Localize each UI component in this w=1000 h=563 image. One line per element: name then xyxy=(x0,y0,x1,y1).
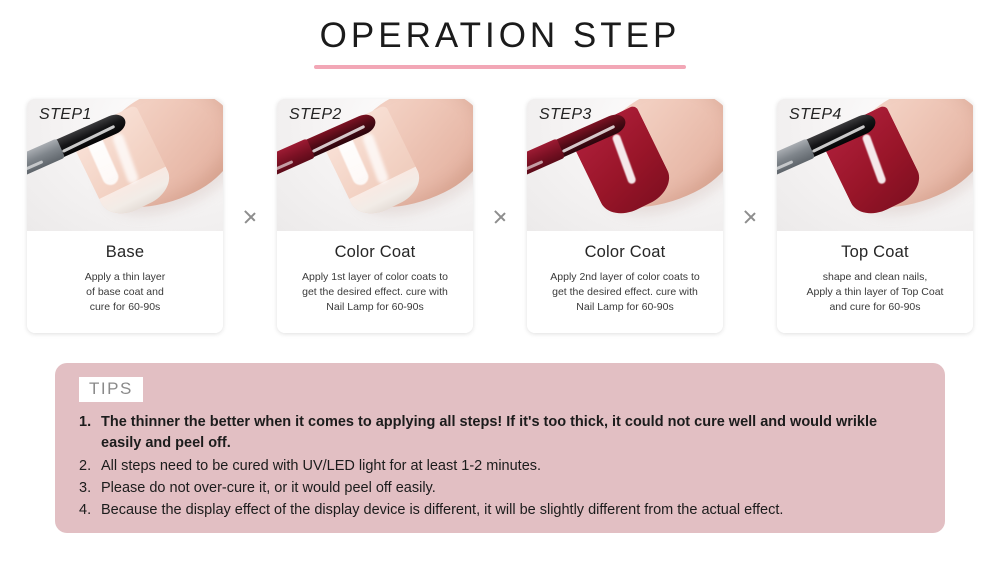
step-photo-1: STEP1 xyxy=(27,99,223,231)
step-photo-3: STEP3 xyxy=(527,99,723,231)
step-description-2: Apply 1st layer of color coats to get th… xyxy=(287,270,463,315)
step-desc-line: of base coat and xyxy=(37,285,213,300)
chevron-right-icon xyxy=(244,204,257,228)
step-separator-2 xyxy=(473,99,527,333)
page-header: OPERATION STEP xyxy=(0,14,1000,69)
tips-list-item: 4. Because the display effect of the dis… xyxy=(79,500,921,520)
step-heading-3: Color Coat xyxy=(537,243,713,262)
chevron-right-icon xyxy=(744,204,757,228)
step-desc-line: Apply a thin layer xyxy=(37,270,213,285)
step-desc-line: and cure for 60-90s xyxy=(787,300,963,315)
step-description-1: Apply a thin layer of base coat and cure… xyxy=(37,270,213,315)
step-heading-1: Base xyxy=(37,243,213,262)
tips-list: 1. The thinner the better when it comes … xyxy=(79,412,921,520)
step-card-1[interactable]: STEP1 Base Apply a thin layer of base co… xyxy=(27,99,223,333)
tips-list-item: 2. All steps need to be cured with UV/LE… xyxy=(79,456,921,476)
tips-item-number: 4. xyxy=(79,500,101,520)
step-badge-3: STEP3 xyxy=(539,106,592,124)
step-desc-line: cure for 60-90s xyxy=(37,300,213,315)
step-badge-4: STEP4 xyxy=(789,106,842,124)
step-desc-line: get the desired effect. cure with xyxy=(287,285,463,300)
step-separator-1 xyxy=(223,99,277,333)
step-heading-2: Color Coat xyxy=(287,243,463,262)
step-heading-4: Top Coat xyxy=(787,243,963,262)
step-desc-line: shape and clean nails, xyxy=(787,270,963,285)
step-badge-1: STEP1 xyxy=(39,106,92,124)
tips-list-item: 3. Please do not over-cure it, or it wou… xyxy=(79,478,921,498)
step-body-2: Color Coat Apply 1st layer of color coat… xyxy=(277,231,473,333)
tips-panel: TIPS 1. The thinner the better when it c… xyxy=(55,363,945,533)
tips-item-text: Please do not over-cure it, or it would … xyxy=(101,478,921,498)
tips-item-number: 1. xyxy=(79,412,101,454)
tips-item-text: Because the display effect of the displa… xyxy=(101,500,921,520)
tips-list-item: 1. The thinner the better when it comes … xyxy=(79,412,921,454)
step-desc-line: Apply a thin layer of Top Coat xyxy=(787,285,963,300)
tips-item-text: All steps need to be cured with UV/LED l… xyxy=(101,456,921,476)
step-body-4: Top Coat shape and clean nails, Apply a … xyxy=(777,231,973,333)
tips-badge: TIPS xyxy=(79,377,143,402)
step-card-4[interactable]: STEP4 Top Coat shape and clean nails, Ap… xyxy=(777,99,973,333)
steps-row: STEP1 Base Apply a thin layer of base co… xyxy=(27,99,973,335)
step-desc-line: Nail Lamp for 60-90s xyxy=(537,300,713,315)
step-description-4: shape and clean nails, Apply a thin laye… xyxy=(787,270,963,315)
page-title: OPERATION STEP xyxy=(0,14,1000,58)
step-desc-line: Apply 2nd layer of color coats to xyxy=(537,270,713,285)
title-underline xyxy=(314,65,686,69)
tips-item-number: 2. xyxy=(79,456,101,476)
tips-item-number: 3. xyxy=(79,478,101,498)
step-desc-line: Nail Lamp for 60-90s xyxy=(287,300,463,315)
step-desc-line: Apply 1st layer of color coats to xyxy=(287,270,463,285)
step-photo-2: STEP2 xyxy=(277,99,473,231)
step-card-3[interactable]: STEP3 Color Coat Apply 2nd layer of colo… xyxy=(527,99,723,333)
step-description-3: Apply 2nd layer of color coats to get th… xyxy=(537,270,713,315)
step-separator-3 xyxy=(723,99,777,333)
step-card-2[interactable]: STEP2 Color Coat Apply 1st layer of colo… xyxy=(277,99,473,333)
step-body-3: Color Coat Apply 2nd layer of color coat… xyxy=(527,231,723,333)
tips-item-text: The thinner the better when it comes to … xyxy=(101,412,921,454)
step-badge-2: STEP2 xyxy=(289,106,342,124)
step-photo-4: STEP4 xyxy=(777,99,973,231)
chevron-right-icon xyxy=(494,204,507,228)
step-desc-line: get the desired effect. cure with xyxy=(537,285,713,300)
step-body-1: Base Apply a thin layer of base coat and… xyxy=(27,231,223,333)
